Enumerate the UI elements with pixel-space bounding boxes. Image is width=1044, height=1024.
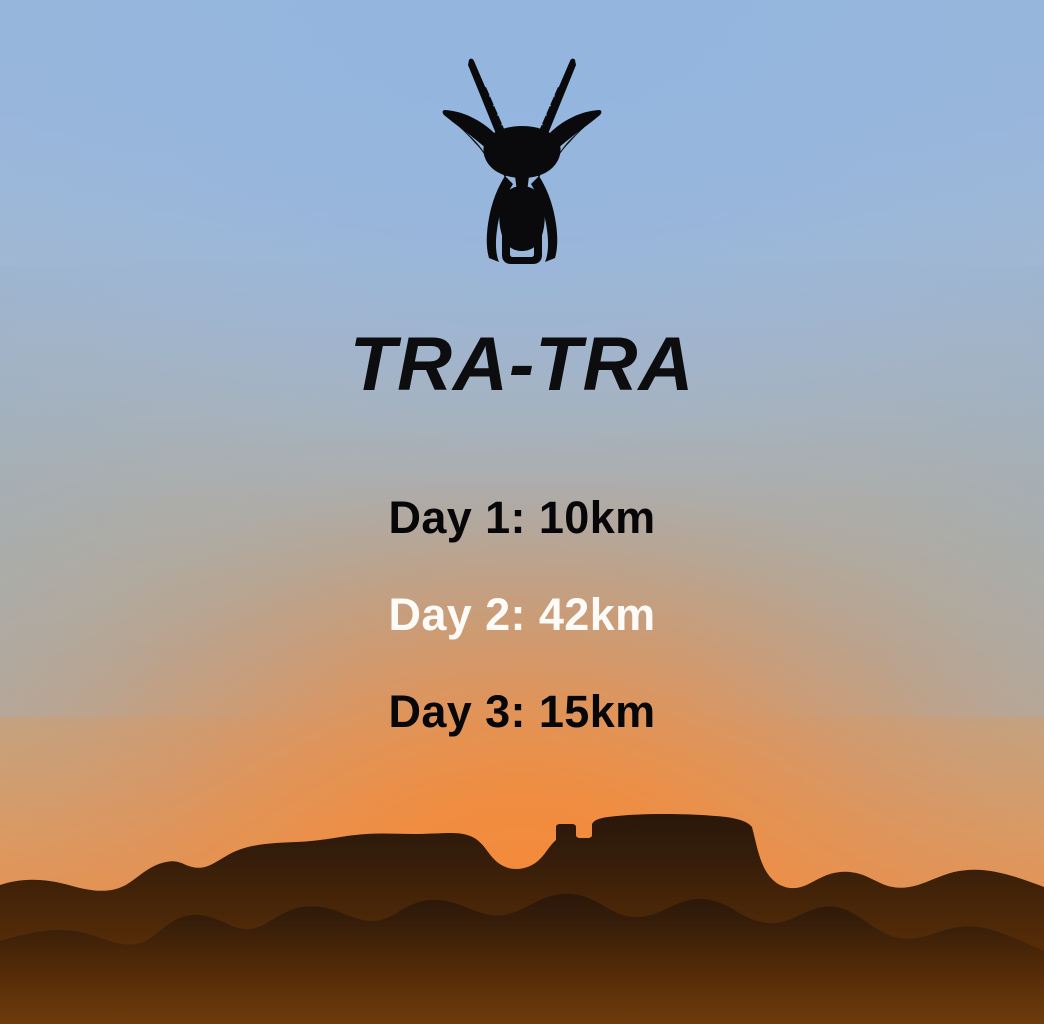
poster-canvas: TRA-TRA Day 1: 10km Day 2: 42km Day 3: 1…	[0, 0, 1044, 1024]
mountain-silhouette	[0, 809, 1044, 1024]
brand-logo	[0, 52, 1044, 270]
itinerary-list: Day 1: 10km Day 2: 42km Day 3: 15km	[0, 495, 1044, 734]
itinerary-day-2: Day 2: 42km	[0, 592, 1044, 637]
page-title: TRA-TRA	[0, 327, 1044, 403]
itinerary-day-3: Day 3: 15km	[0, 689, 1044, 734]
itinerary-day-1: Day 1: 10km	[0, 495, 1044, 540]
gazelle-head-icon	[439, 52, 605, 270]
